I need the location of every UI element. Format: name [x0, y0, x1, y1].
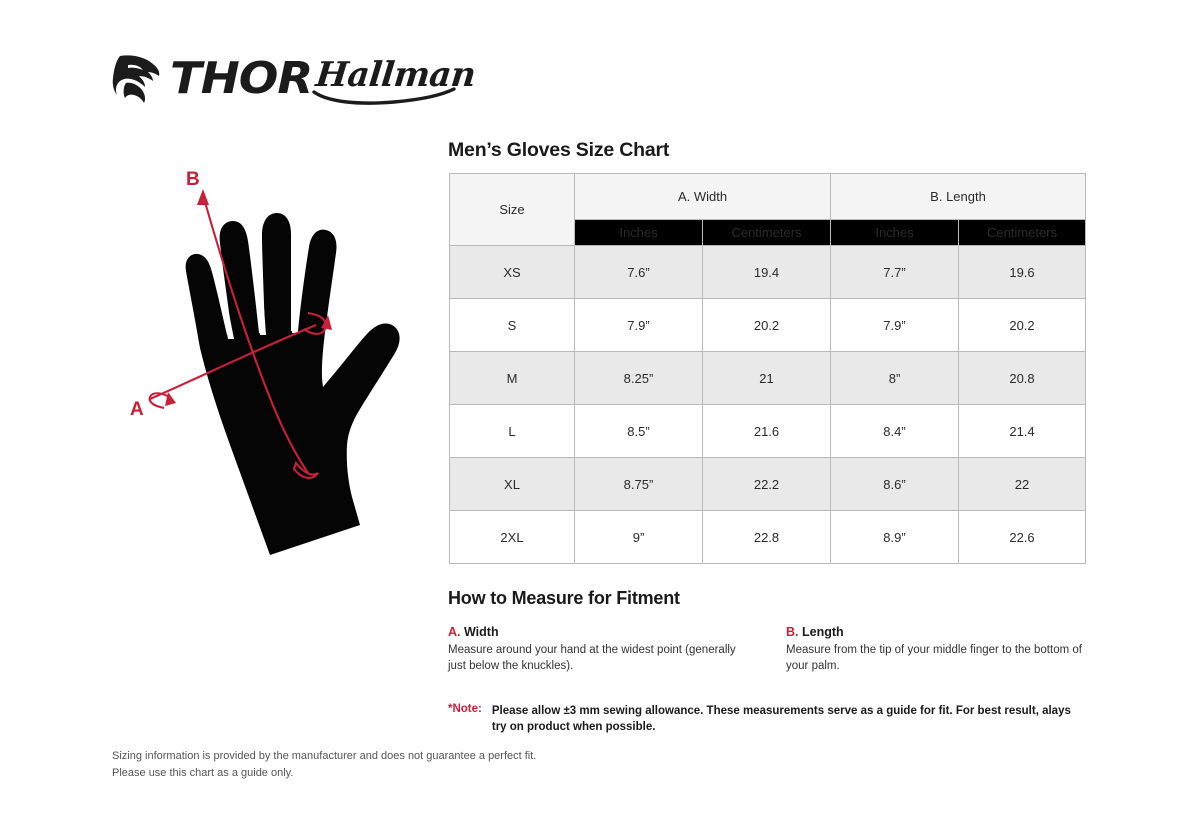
header-width-centimeters: Centimeters — [703, 220, 831, 246]
hallman-swash-icon — [310, 86, 458, 108]
cell-width-inches: 9” — [575, 511, 703, 564]
cell-width-inches: 8.75” — [575, 458, 703, 511]
cell-length-centimeters: 21.4 — [959, 405, 1086, 458]
measure-length-name: Length — [802, 625, 844, 639]
table-row: L 8.5” 21.6 8.4” 21.4 — [450, 405, 1086, 458]
thor-wordmark: THOR — [170, 57, 312, 101]
cell-size: XL — [450, 458, 575, 511]
cell-length-inches: 8” — [831, 352, 959, 405]
table-row: XS 7.6” 19.4 7.7” 19.6 — [450, 246, 1086, 299]
hallman-logo: Hallman — [310, 52, 460, 108]
helmet-icon — [112, 53, 168, 105]
diagram-label-a: A — [130, 399, 144, 420]
cell-size: S — [450, 299, 575, 352]
table-row: M 8.25” 21 8” 20.8 — [450, 352, 1086, 405]
note-row: *Note: Please allow ±3 mm sewing allowan… — [448, 703, 1088, 736]
cell-size: 2XL — [450, 511, 575, 564]
header-length-group: B. Length — [831, 174, 1086, 220]
cell-length-centimeters: 20.8 — [959, 352, 1086, 405]
cell-width-inches: 7.9” — [575, 299, 703, 352]
header-length-centimeters: Centimeters — [959, 220, 1086, 246]
cell-length-centimeters: 20.2 — [959, 299, 1086, 352]
footer-line-1: Sizing information is provided by the ma… — [112, 748, 536, 765]
table-row: S 7.9” 20.2 7.9” 20.2 — [450, 299, 1086, 352]
note-text: Please allow ±3 mm sewing allowance. The… — [492, 703, 1088, 736]
brand-logo-bar: THOR Hallman — [112, 50, 472, 112]
cell-size: L — [450, 405, 575, 458]
cell-length-inches: 8.9” — [831, 511, 959, 564]
cell-width-centimeters: 21 — [703, 352, 831, 405]
hand-silhouette-icon — [186, 213, 400, 555]
diagram-label-b: B — [186, 169, 200, 190]
measure-width-key: A. — [448, 625, 461, 639]
page-title: Men’s Gloves Size Chart — [448, 139, 669, 162]
header-length-inches: Inches — [831, 220, 959, 246]
size-chart-table: Size A. Width B. Length Inches Centimete… — [449, 173, 1086, 564]
measure-length-block: B. Length Measure from the tip of your m… — [786, 625, 1092, 675]
cell-width-centimeters: 21.6 — [703, 405, 831, 458]
header-width-group: A. Width — [575, 174, 831, 220]
cell-length-centimeters: 22.6 — [959, 511, 1086, 564]
header-size: Size — [450, 174, 575, 246]
cell-length-inches: 7.9” — [831, 299, 959, 352]
cell-length-inches: 7.7” — [831, 246, 959, 299]
cell-width-inches: 8.5” — [575, 405, 703, 458]
hand-measurement-diagram: B A — [128, 163, 433, 558]
cell-length-centimeters: 22 — [959, 458, 1086, 511]
note-key: *Note: — [448, 703, 482, 736]
measure-length-label: B. Length — [786, 625, 1092, 639]
cell-width-inches: 8.25” — [575, 352, 703, 405]
table-row: 2XL 9” 22.8 8.9” 22.6 — [450, 511, 1086, 564]
cell-width-centimeters: 20.2 — [703, 299, 831, 352]
footer-disclaimer: Sizing information is provided by the ma… — [112, 748, 536, 782]
cell-size: M — [450, 352, 575, 405]
cell-length-inches: 8.6” — [831, 458, 959, 511]
header-width-inches: Inches — [575, 220, 703, 246]
measure-width-block: A. Width Measure around your hand at the… — [448, 625, 754, 675]
measure-width-label: A. Width — [448, 625, 754, 639]
cell-width-centimeters: 22.2 — [703, 458, 831, 511]
cell-width-centimeters: 22.8 — [703, 511, 831, 564]
measure-width-name: Width — [464, 625, 499, 639]
measure-width-text: Measure around your hand at the widest p… — [448, 642, 754, 675]
how-to-measure-heading: How to Measure for Fitment — [448, 588, 680, 609]
table-header-row-groups: Size A. Width B. Length — [450, 174, 1086, 220]
measure-length-text: Measure from the tip of your middle fing… — [786, 642, 1092, 675]
cell-size: XS — [450, 246, 575, 299]
cell-length-inches: 8.4” — [831, 405, 959, 458]
footer-line-2: Please use this chart as a guide only. — [112, 765, 536, 782]
cell-width-centimeters: 19.4 — [703, 246, 831, 299]
thor-logo: THOR — [112, 50, 304, 108]
cell-length-centimeters: 19.6 — [959, 246, 1086, 299]
measure-length-key: B. — [786, 625, 799, 639]
table-row: XL 8.75” 22.2 8.6” 22 — [450, 458, 1086, 511]
cell-width-inches: 7.6” — [575, 246, 703, 299]
